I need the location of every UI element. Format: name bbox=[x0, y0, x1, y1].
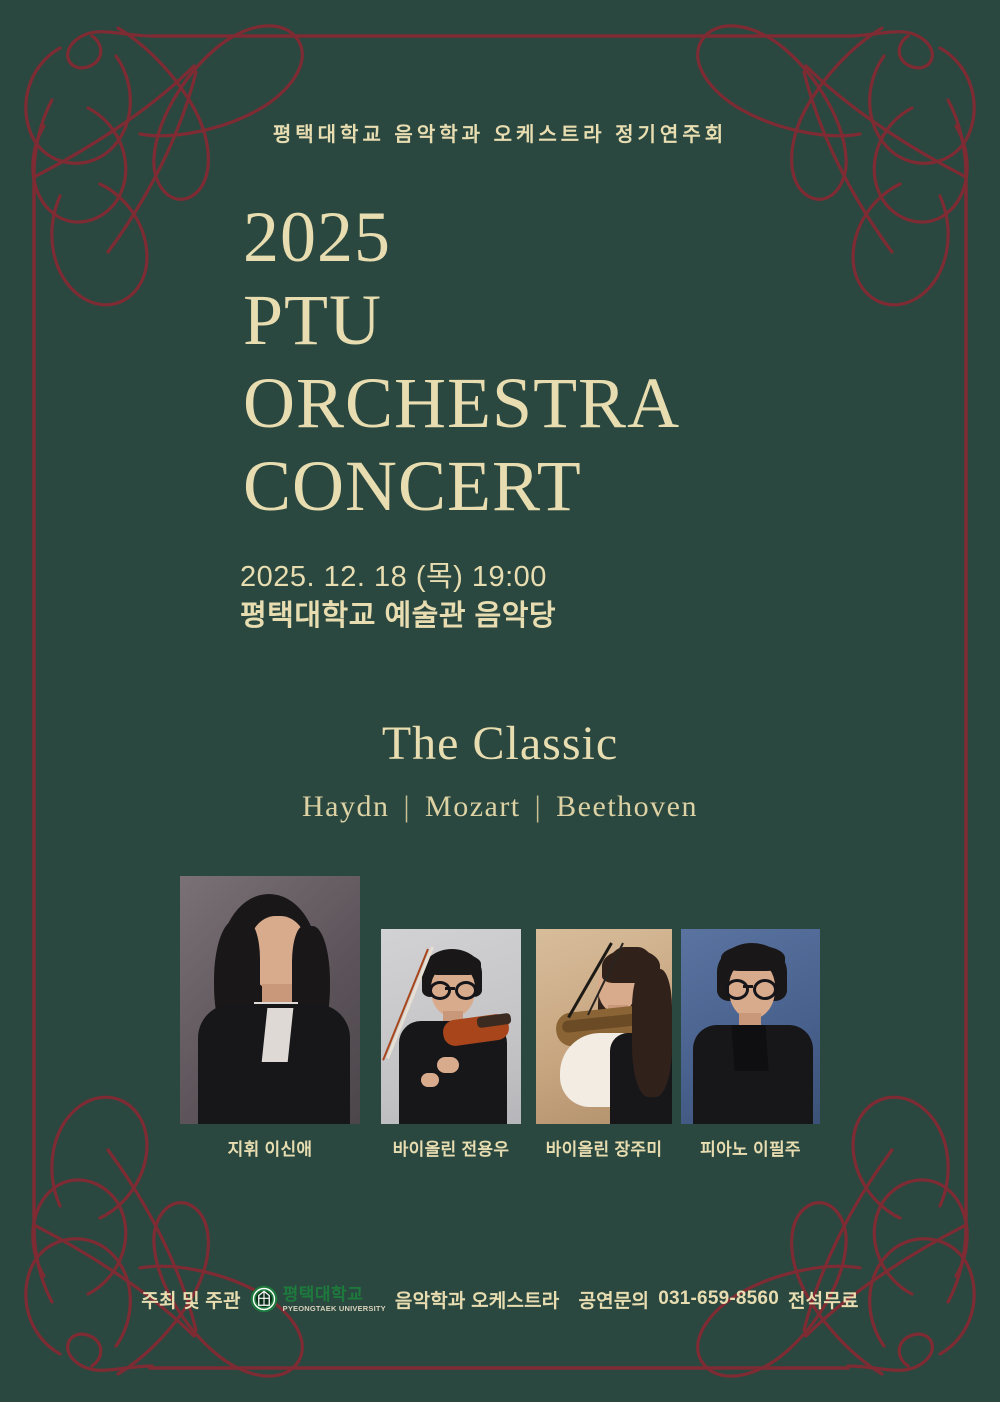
university-emblem-icon bbox=[250, 1285, 278, 1313]
title-line-year: 2025 bbox=[243, 196, 943, 279]
poster-title: 2025 PTU ORCHESTRA CONCERT bbox=[243, 196, 943, 528]
performer-card-violin-1: 바이올린 전용우 bbox=[381, 929, 521, 1160]
performer-caption-piano: 피아노 이필주 bbox=[681, 1135, 820, 1160]
event-venue: 평택대학교 예술관 음악당 bbox=[240, 596, 940, 636]
concert-poster: 평택대학교 음악학과 오케스트라 정기연주회 2025 PTU ORCHESTR… bbox=[0, 0, 1000, 1402]
footer-organizer-label: 주최 및 주관 bbox=[141, 1286, 240, 1313]
university-name-en: PYEONGTAEK UNIVERSITY bbox=[283, 1305, 386, 1313]
poster-kicker: 평택대학교 음악학과 오케스트라 정기연주회 bbox=[0, 118, 1000, 147]
event-datetime: 2025. 12. 18 (목) 19:00 bbox=[240, 558, 940, 596]
composer-list: Haydn|Mozart|Beethoven bbox=[0, 790, 1000, 824]
title-line-ptu: PTU bbox=[243, 279, 943, 362]
program-title: The Classic bbox=[0, 716, 1000, 771]
footer-department: 음악학과 오케스트라 bbox=[395, 1286, 560, 1313]
performer-card-piano: 피아노 이필주 bbox=[681, 929, 820, 1160]
performer-photo-conductor bbox=[180, 876, 360, 1124]
composer-separator-2: | bbox=[521, 790, 557, 824]
performer-photo-violin-2 bbox=[536, 929, 672, 1124]
performer-photo-violin-1 bbox=[381, 929, 521, 1124]
footer-admission: 전석무료 bbox=[788, 1286, 859, 1313]
footer-contact-phone: 031-659-8560 bbox=[658, 1288, 779, 1310]
composer-separator-1: | bbox=[390, 790, 426, 824]
title-line-orchestra: ORCHESTRA bbox=[243, 362, 943, 445]
composer-mozart: Mozart bbox=[425, 790, 521, 823]
composer-beethoven: Beethoven bbox=[556, 790, 698, 823]
performer-photo-piano bbox=[681, 929, 820, 1124]
performer-caption-conductor: 지휘 이신애 bbox=[180, 1135, 360, 1160]
performer-card-conductor: 지휘 이신애 bbox=[180, 876, 360, 1160]
footer-contact-label: 공연문의 bbox=[579, 1286, 650, 1313]
university-logo: 평택대학교 PYEONGTAEK UNIVERSITY bbox=[250, 1285, 386, 1313]
event-info: 2025. 12. 18 (목) 19:00 평택대학교 예술관 음악당 bbox=[240, 558, 940, 636]
eyeglasses-icon bbox=[429, 981, 451, 1000]
composer-haydn: Haydn bbox=[302, 790, 389, 823]
poster-footer: 주최 및 주관 평택대학교 PYEONGTAEK UNIVERSITY 음악학과… bbox=[0, 1285, 1000, 1313]
university-name-kr: 평택대학교 bbox=[283, 1286, 386, 1303]
performer-caption-violin-2: 바이올린 장주미 bbox=[536, 1135, 672, 1160]
performer-card-violin-2: 바이올린 장주미 bbox=[536, 929, 672, 1160]
performer-caption-violin-1: 바이올린 전용우 bbox=[381, 1135, 521, 1160]
university-logo-text: 평택대학교 PYEONGTAEK UNIVERSITY bbox=[283, 1286, 386, 1313]
performer-gallery: 지휘 이신애 바이올린 전용우 bbox=[0, 880, 1000, 1160]
title-line-concert: CONCERT bbox=[243, 445, 943, 528]
